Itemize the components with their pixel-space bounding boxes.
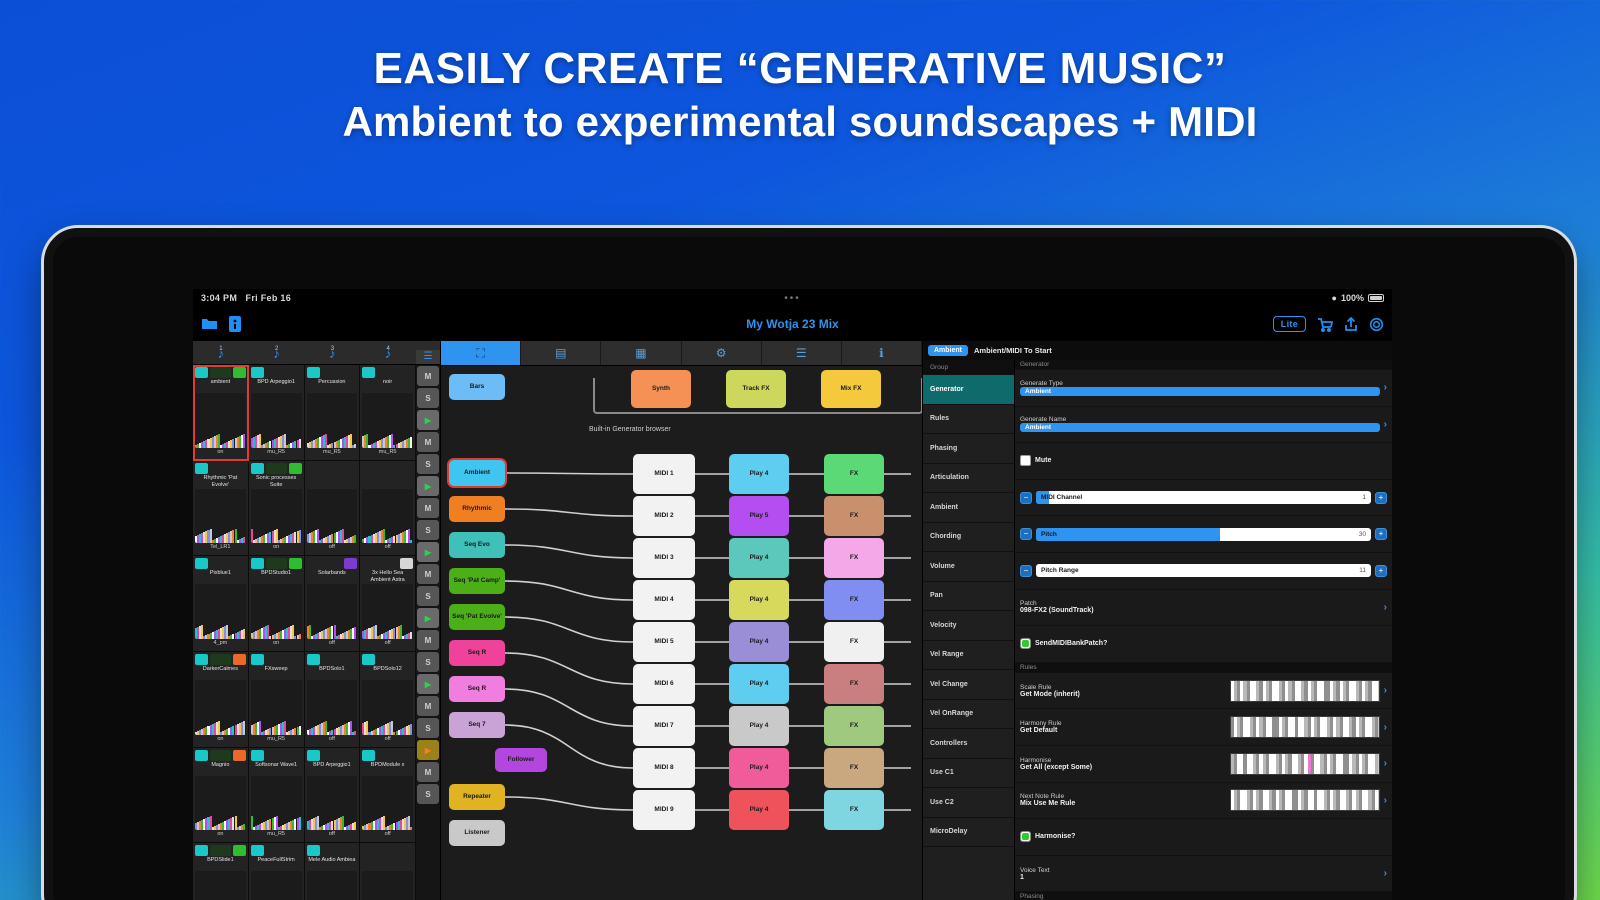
mixer-cell-toggles	[251, 654, 302, 665]
parameter-label: Generate Type	[1020, 380, 1380, 387]
mixer-cell-chip[interactable]	[233, 367, 246, 378]
parameter-slider[interactable]: Pitch30	[1036, 528, 1371, 541]
rule-pattern-strip[interactable]	[1230, 716, 1380, 738]
mixer-cell-waveform	[195, 680, 246, 735]
mixer-cell-chip[interactable]	[195, 367, 208, 378]
list-tab-icon: ☰	[796, 346, 807, 360]
mixer-cell-status: mu_R5	[251, 449, 302, 458]
mixer-cell-name: BPD Arpeggio1	[251, 379, 302, 392]
mixer-play-button[interactable]: ▶	[417, 740, 439, 760]
mixer-cell-chip[interactable]	[195, 845, 208, 856]
parameter-value[interactable]: Ambient	[1020, 387, 1380, 396]
tab-mixer-tab[interactable]: ▤	[521, 341, 601, 365]
mixer-cell-toggles	[195, 845, 246, 856]
mixer-cell-chip[interactable]	[251, 750, 264, 761]
mixer-cell-chip[interactable]	[195, 654, 208, 665]
graph-node-midi[interactable]: MIDI 1	[633, 454, 695, 494]
graph-node-generator[interactable]: Repeater	[449, 784, 505, 810]
stepper-increment-button[interactable]: +	[1375, 492, 1387, 504]
parameter-stack: Patch098-FX2 (SoundTrack)	[1020, 600, 1380, 614]
parameter-row-select[interactable]: Generate NameAmbient›	[1015, 407, 1392, 444]
mixer-cell-waveform	[195, 871, 246, 900]
mixer-solo-button[interactable]: S	[417, 784, 439, 804]
parameter-slider[interactable]: Pitch Range11	[1036, 564, 1371, 577]
mixer-cell-chip[interactable]	[210, 654, 231, 665]
mixer-cell-chip[interactable]	[307, 654, 320, 665]
toggle-indicator[interactable]	[1020, 638, 1031, 649]
mixer-cell-waveform	[307, 680, 358, 735]
mixer-solo-button[interactable]: S	[417, 520, 439, 540]
mixer-cell-toggles	[251, 845, 302, 856]
parameter-row-slider[interactable]: −MIDI Channel1+	[1015, 480, 1392, 517]
mixer-cell-waveform	[307, 776, 358, 831]
parameter-group-header: Group	[923, 360, 1014, 375]
graph-node-generator[interactable]: Seq Evo	[449, 532, 505, 558]
parameter-label: SendMIDIBankPatch?	[1035, 640, 1107, 647]
parameter-stack: Generate TypeAmbient	[1020, 380, 1380, 396]
mixer-cell-toggles	[307, 558, 358, 569]
lite-badge-button[interactable]: Lite	[1273, 316, 1306, 332]
mixer-cell-chip[interactable]	[233, 750, 246, 761]
mixer-cell-chip[interactable]	[307, 750, 320, 761]
share-icon[interactable]	[1344, 316, 1358, 332]
parameter-value: 098-FX2 (SoundTrack)	[1020, 607, 1380, 614]
graph-node-play[interactable]: Play 4	[729, 622, 789, 662]
graph-node-midi[interactable]: MIDI 5	[633, 622, 695, 662]
mixer-play-button[interactable]: ▶	[417, 410, 439, 430]
mixer-solo-button[interactable]: S	[417, 454, 439, 474]
mixer-cell[interactable]: Pixblue14_pm	[193, 556, 249, 652]
mixer-cell[interactable]: noirmu_R5	[360, 365, 416, 461]
mixer-cell-chip[interactable]	[195, 750, 208, 761]
graph-node-generator[interactable]: Seq 7	[449, 712, 505, 738]
parameter-row-text[interactable]: Patch098-FX2 (SoundTrack)›	[1015, 590, 1392, 627]
mixer-cell-status: off	[362, 736, 413, 745]
mixer-cell-waveform	[251, 680, 302, 735]
mixer-column-header[interactable]: 2♪	[249, 345, 305, 364]
graph-section-label: Built-in Generator browser	[589, 426, 671, 433]
mixer-cell-chip[interactable]	[251, 558, 264, 569]
parameter-group-item[interactable]: MicroDelay	[923, 818, 1014, 848]
mixer-cell-chip[interactable]	[362, 750, 375, 761]
parameter-value: Get All (except Some)	[1020, 764, 1226, 771]
graph-node-fx[interactable]: FX	[824, 664, 884, 704]
rule-pattern-strip[interactable]	[1230, 680, 1380, 702]
mixer-cell-chip[interactable]	[344, 558, 357, 569]
mixer-cell-waveform	[251, 871, 302, 900]
mixer-cell-chip[interactable]	[266, 463, 287, 474]
graph-node-midi[interactable]: MIDI 3	[633, 538, 695, 578]
parameter-row-toggle[interactable]: Harmonise?	[1015, 819, 1392, 856]
mixer-cell[interactable]: Softsonar Wave1mu_R5	[249, 748, 305, 844]
mixer-cell-toggles	[251, 463, 302, 474]
mixer-cell-toggles	[362, 463, 413, 474]
parameter-label: Scale Rule	[1020, 684, 1226, 691]
mixer-cell-toggles	[362, 654, 413, 665]
status-indicators: ● 100%	[1332, 293, 1384, 303]
status-date: Fri Feb 16	[246, 293, 292, 303]
mixer-cell-name: BPDSolo1	[307, 666, 358, 679]
graph-node-play[interactable]: Play 4	[729, 580, 789, 620]
parameter-label: Generate Name	[1020, 416, 1380, 423]
mixer-menu-button[interactable]: ☰	[416, 350, 440, 364]
parameter-value: Get Default	[1020, 727, 1226, 734]
mixer-cell[interactable]: Solarbandsoff	[305, 556, 361, 652]
stepper-increment-button[interactable]: +	[1375, 528, 1387, 540]
mixer-cell[interactable]: Mele Audio Ambieaoff	[305, 843, 361, 900]
document-icon[interactable]	[228, 316, 242, 332]
parameter-stack: Generate NameAmbient	[1020, 416, 1380, 432]
chevron-right-icon[interactable]: ›	[1384, 419, 1387, 430]
graph-node-generator[interactable]: Rhythmic	[449, 496, 505, 522]
mixer-cell-waveform	[362, 489, 413, 544]
tab-network-tab[interactable]: ⚙	[682, 341, 762, 365]
mixer-cell-chip[interactable]	[210, 845, 231, 856]
mixer-cell[interactable]: Magnioon	[193, 748, 249, 844]
graph-node-play[interactable]: Play 4	[729, 706, 789, 746]
parameter-stack: Voice Text1	[1020, 867, 1380, 881]
parameter-row-rule[interactable]: Scale RuleGet Mode (inherit)›	[1015, 673, 1392, 710]
toggle-indicator[interactable]	[1020, 831, 1031, 842]
parameter-row-rule[interactable]: Harmony RuleGet Default›	[1015, 709, 1392, 746]
graph-node-midi[interactable]: MIDI 6	[633, 664, 695, 704]
mixer-cell-chip[interactable]	[251, 654, 264, 665]
graph-node-play[interactable]: Play 5	[729, 496, 789, 536]
cart-icon[interactable]	[1317, 317, 1333, 332]
mixer-cell-waveform	[362, 584, 413, 639]
parameters-badge[interactable]: Ambient	[928, 345, 968, 356]
graph-node-synth[interactable]: Synth	[631, 370, 691, 408]
graph-node-midi[interactable]: MIDI 7	[633, 706, 695, 746]
mixer-cell-name: Softsonar Wave1	[251, 762, 302, 775]
parameter-group-item[interactable]: Pan	[923, 582, 1014, 612]
mixer-panel: 1♪2♪3♪4♪☰ ambientonBPD Arpeggio1mu_R5Per…	[193, 341, 441, 900]
mixer-cell-chip[interactable]	[362, 367, 375, 378]
mixer-cell-status: on	[195, 449, 246, 458]
graph-node-fx[interactable]: FX	[824, 454, 884, 494]
graph-node-fx[interactable]: FX	[824, 538, 884, 578]
mixer-cell[interactable]: PeaceFullStrimmu_R5	[249, 843, 305, 900]
graph-node-follower[interactable]: Follower	[495, 748, 547, 772]
parameter-group-item[interactable]: Use C2	[923, 788, 1014, 818]
graph-node-generator[interactable]: Listener	[449, 820, 505, 846]
mixer-mute-button[interactable]: M	[417, 432, 439, 452]
graph-node-fx[interactable]: FX	[824, 622, 884, 662]
graph-node-generator[interactable]: Ambient	[449, 460, 505, 486]
parameter-group-item[interactable]: Ambient	[923, 493, 1014, 523]
graph-node-fx[interactable]: FX	[824, 496, 884, 536]
mixer-cell-name: Rhythmic 'Pat Evolve'	[195, 475, 246, 488]
mixer-cell-waveform	[251, 393, 302, 448]
graph-node-fx[interactable]: FX	[824, 580, 884, 620]
promo-headline: EASILY CREATE “GENERATIVE MUSIC” Ambient…	[0, 44, 1600, 148]
parameter-section-header: Phasing	[1015, 892, 1392, 900]
mute-checkbox[interactable]	[1020, 455, 1031, 466]
chevron-right-icon[interactable]: ›	[1384, 602, 1387, 613]
graph-node-generator[interactable]: Seq 'Pat Evolve'	[449, 604, 505, 630]
parameter-row-rule[interactable]: Next Note RuleMix Use Me Rule›	[1015, 783, 1392, 820]
mixer-cell-chip[interactable]	[307, 845, 320, 856]
mixer-cell-waveform	[251, 776, 302, 831]
mixer-cell-toggles	[307, 750, 358, 761]
graph-node-play[interactable]: Play 4	[729, 790, 789, 830]
chevron-right-icon[interactable]: ›	[1384, 382, 1387, 393]
mixer-play-button[interactable]: ▶	[417, 674, 439, 694]
mixer-cell-chip[interactable]	[266, 558, 287, 569]
info-tab-icon: ℹ	[879, 346, 884, 360]
parameter-stack: HarmoniseGet All (except Some)	[1020, 757, 1226, 771]
gear-icon[interactable]	[1369, 317, 1384, 332]
mixer-cell-name: BPD Arpeggio1	[307, 762, 358, 775]
mixer-cell-toggles	[251, 367, 302, 378]
graph-node-play[interactable]: Play 4	[729, 454, 789, 494]
mixer-cell-waveform	[195, 393, 246, 448]
parameter-group-item[interactable]: Vel OnRange	[923, 700, 1014, 730]
mixer-cell-chip[interactable]	[251, 845, 264, 856]
mixer-cell-status: on	[251, 640, 302, 649]
parameter-row-slider[interactable]: −Pitch Range11+	[1015, 553, 1392, 590]
parameter-group-item[interactable]: Volume	[923, 552, 1014, 582]
parameter-label: Harmony Rule	[1020, 720, 1226, 727]
status-time: 3:04 PM	[201, 293, 237, 303]
mixer-cell-toggles	[362, 750, 413, 761]
status-time-date: 3:04 PM Fri Feb 16	[201, 293, 291, 303]
mixer-cell-status: off	[362, 640, 413, 649]
tablet-screen: 3:04 PM Fri Feb 16 ••• ● 100% My Wotja 2…	[193, 289, 1392, 900]
mixer-cell-name: Pixblue1	[195, 570, 246, 583]
mixer-cell-waveform	[195, 584, 246, 639]
mixer-cell-status: off	[307, 831, 358, 840]
parameter-group-item[interactable]: Generator	[923, 375, 1014, 405]
parameter-group-item[interactable]: Rules	[923, 405, 1014, 435]
mixer-cell-toggles	[251, 750, 302, 761]
mixer-cell[interactable]: BPD Arpeggio1mu_R5	[249, 365, 305, 461]
mixer-cell-name	[362, 857, 413, 870]
mixer-cell-status: 4_pm	[195, 640, 246, 649]
mixer-cell-status: off	[362, 831, 413, 840]
graph-node-generator[interactable]: Seq R	[449, 640, 505, 666]
stepper-decrement-button[interactable]: −	[1020, 565, 1032, 577]
mixer-cell-chip[interactable]	[233, 845, 246, 856]
mixer-cell-name: BPDStudio1	[251, 570, 302, 583]
rule-pattern-strip[interactable]	[1230, 789, 1380, 811]
mixer-solo-button[interactable]: S	[417, 388, 439, 408]
network-tab-icon: ⚙	[716, 346, 727, 360]
graph-node-generator[interactable]: Seq 'Pat Camp'	[449, 568, 505, 594]
mixer-cell-name: PeaceFullStrim	[251, 857, 302, 870]
flow-tab-icon: ⛶	[476, 346, 484, 361]
mixer-cell-toggles	[307, 654, 358, 665]
chevron-right-icon[interactable]: ›	[1384, 758, 1387, 769]
parameter-group-item[interactable]: Articulation	[923, 464, 1014, 494]
chevron-right-icon[interactable]: ›	[1384, 795, 1387, 806]
parameter-row-slider[interactable]: −Pitch30+	[1015, 516, 1392, 553]
mixer-cell-waveform	[307, 393, 358, 448]
mixer-solo-button[interactable]: S	[417, 718, 439, 738]
parameter-value: Mix Use Me Rule	[1020, 800, 1226, 807]
mixer-cell[interactable]: BPDSlide1on	[193, 843, 249, 900]
mixer-cell[interactable]: BPD Arpeggio1off	[305, 748, 361, 844]
app-toolbar: My Wotja 23 Mix Lite	[193, 307, 1392, 341]
parameters-body: GroupGeneratorRulesPhasingArticulationAm…	[923, 360, 1392, 900]
graph-node-generator[interactable]: Seq R	[449, 676, 505, 702]
chevron-right-icon[interactable]: ›	[1384, 685, 1387, 696]
mixer-cell[interactable]: off	[305, 461, 361, 557]
parameter-row-checkbox[interactable]: Mute	[1015, 443, 1392, 480]
tab-info-tab[interactable]: ℹ	[842, 341, 922, 365]
parameter-section-header: Rules	[1015, 663, 1392, 673]
mixer-cell-toggles	[195, 558, 246, 569]
parameter-label: Next Note Rule	[1020, 793, 1226, 800]
slider-value: 11	[1359, 567, 1371, 574]
parameter-label: Mute	[1035, 457, 1051, 464]
mixer-mute-button[interactable]: M	[417, 696, 439, 716]
mixer-mute-button[interactable]: M	[417, 762, 439, 782]
grid-tab-icon: ▦	[635, 346, 646, 360]
graph-node-play[interactable]: Play 4	[729, 664, 789, 704]
graph-node-fx[interactable]: FX	[824, 706, 884, 746]
parameter-section-header: Generator	[1015, 360, 1392, 370]
parameter-value: Get Mode (inherit)	[1020, 691, 1226, 698]
graph-node-fx[interactable]: FX	[824, 748, 884, 788]
mixer-cell[interactable]: FXsweepmu_R5	[249, 652, 305, 748]
mixer-cell-chip[interactable]	[289, 463, 302, 474]
graph-node-play[interactable]: Play 4	[729, 748, 789, 788]
editor-tabs: ⛶▤▦⚙☰ℹ	[441, 341, 922, 366]
mixer-cell-chip[interactable]	[289, 558, 302, 569]
parameter-group-item[interactable]: Vel Range	[923, 641, 1014, 671]
mixer-cell-waveform	[251, 584, 302, 639]
mixer-cell-chip[interactable]	[210, 367, 231, 378]
parameter-label: Harmonise?	[1035, 833, 1075, 840]
stepper-increment-button[interactable]: +	[1375, 565, 1387, 577]
mixer-cell[interactable]: Rhythmic 'Pat Evolve'Tel_LR1	[193, 461, 249, 557]
stepper-decrement-button[interactable]: −	[1020, 528, 1032, 540]
stepper-decrement-button[interactable]: −	[1020, 492, 1032, 504]
chevron-right-icon[interactable]: ›	[1384, 722, 1387, 733]
tablet-device: 3:04 PM Fri Feb 16 ••• ● 100% My Wotja 2…	[44, 228, 1574, 900]
mixer-cell-waveform	[362, 393, 413, 448]
parameter-group-item[interactable]: Vel Change	[923, 670, 1014, 700]
mixer-cell-chip[interactable]	[362, 654, 375, 665]
mixer-cell-chip[interactable]	[307, 367, 320, 378]
parameter-row-toggle[interactable]: SendMIDIBankPatch?	[1015, 626, 1392, 663]
parameter-label: Harmonise	[1020, 757, 1226, 764]
mixer-cell[interactable]: 3x Hello Sea Ambient Astraoff	[360, 556, 416, 652]
mixer-cell-chip[interactable]	[251, 463, 264, 474]
mixer-cell[interactable]: BPDSolo1off	[305, 652, 361, 748]
mixer-cell-status: mu_R5	[251, 736, 302, 745]
tab-list-tab[interactable]: ☰	[762, 341, 842, 365]
mixer-cell-toggles	[307, 463, 358, 474]
parameters-header: Ambient Ambient/MIDI To Start	[923, 341, 1392, 360]
rule-pattern-strip[interactable]	[1230, 753, 1380, 775]
slider-label: MIDI Channel	[1036, 494, 1082, 501]
mixer-cell-toggles	[362, 558, 413, 569]
mixer-cell-status: off	[307, 640, 358, 649]
parameter-group-item[interactable]: Chording	[923, 523, 1014, 553]
mixer-solo-button[interactable]: S	[417, 586, 439, 606]
mixer-play-button[interactable]: ▶	[417, 476, 439, 496]
mixer-cell[interactable]: BPDModule xoff	[360, 748, 416, 844]
parameter-group-item[interactable]: Phasing	[923, 434, 1014, 464]
mixer-column-number: 4	[360, 346, 416, 352]
parameter-slider[interactable]: MIDI Channel1	[1036, 491, 1371, 504]
graph-node-midi[interactable]: MIDI 4	[633, 580, 695, 620]
parameter-group-item[interactable]: Use C1	[923, 759, 1014, 789]
mixer-cell-chip[interactable]	[251, 367, 264, 378]
mixer-cell[interactable]: off	[360, 843, 416, 900]
mixer-cell-chip[interactable]	[195, 558, 208, 569]
graph-node-mix-fx[interactable]: Mix FX	[821, 370, 881, 408]
mixer-cell[interactable]: Percussionmu_R5	[305, 365, 361, 461]
mixer-cell-chip[interactable]	[210, 750, 231, 761]
chevron-right-icon[interactable]: ›	[1384, 868, 1387, 879]
mixer-cell-name: Mele Audio Ambiea	[307, 857, 358, 870]
mixer-play-button[interactable]: ▶	[417, 608, 439, 628]
graph-node-play[interactable]: Play 4	[729, 538, 789, 578]
slider-value: 30	[1359, 531, 1371, 538]
mixer-cell[interactable]: ambienton	[193, 365, 249, 461]
mixer-mute-button[interactable]: M	[417, 630, 439, 650]
graph-node-midi[interactable]: MIDI 8	[633, 748, 695, 788]
mixer-column-header[interactable]: 3♪	[305, 345, 361, 364]
mixer-cell-waveform	[307, 584, 358, 639]
parameter-label: Voice Text	[1020, 867, 1380, 874]
mixer-cell-chip[interactable]	[195, 463, 208, 474]
slider-value: 1	[1362, 494, 1371, 501]
parameter-row-rule[interactable]: HarmoniseGet All (except Some)›	[1015, 746, 1392, 783]
mixer-play-button[interactable]: ▶	[417, 542, 439, 562]
parameter-group-item[interactable]: Velocity	[923, 611, 1014, 641]
mixer-mute-button[interactable]: M	[417, 366, 439, 386]
mixer-cell-chip[interactable]	[400, 558, 413, 569]
mixer-column-header[interactable]: 4♪	[360, 345, 416, 364]
tab-grid-tab[interactable]: ▦	[601, 341, 681, 365]
mixer-cell-toggles	[362, 367, 413, 378]
mixer-column-header[interactable]: 1♪	[193, 345, 249, 364]
mixer-column-number: 1	[193, 346, 249, 352]
graph-node-fx[interactable]: FX	[824, 790, 884, 830]
mixer-cell-chip[interactable]	[233, 654, 246, 665]
mixer-cell[interactable]: BPDSolo12off	[360, 652, 416, 748]
graph-node-bars[interactable]: Bars	[449, 374, 505, 400]
mixer-cell[interactable]: DarkerCalmeson	[193, 652, 249, 748]
parameter-value[interactable]: Ambient	[1020, 423, 1380, 432]
folder-icon[interactable]	[201, 317, 218, 331]
parameter-row-select[interactable]: Generate TypeAmbient›	[1015, 370, 1392, 407]
graph-node-midi[interactable]: MIDI 9	[633, 790, 695, 830]
tab-flow-tab[interactable]: ⛶	[441, 341, 521, 365]
mixer-cell[interactable]: BPDStudio1on	[249, 556, 305, 652]
mixer-cell[interactable]: Sonic processes Suiteon	[249, 461, 305, 557]
graph-node-midi[interactable]: MIDI 2	[633, 496, 695, 536]
mixer-tab-icon: ▤	[555, 346, 566, 360]
graph-node-track-fx[interactable]: Track FX	[726, 370, 786, 408]
mixer-cell-waveform	[195, 489, 246, 544]
mixer-cell-name: Magnio	[195, 762, 246, 775]
parameter-group-item[interactable]: Controllers	[923, 729, 1014, 759]
mixer-mute-button[interactable]: M	[417, 498, 439, 518]
mixer-cell-waveform	[362, 776, 413, 831]
parameter-row-text[interactable]: Voice Text1›	[1015, 856, 1392, 893]
mixer-solo-button[interactable]: S	[417, 652, 439, 672]
mixer-mute-button[interactable]: M	[417, 564, 439, 584]
mixer-cell[interactable]: off	[360, 461, 416, 557]
parameters-panel: Ambient Ambient/MIDI To Start GroupGener…	[922, 341, 1392, 900]
mixer-column-headers: 1♪2♪3♪4♪☰	[193, 341, 440, 365]
mixer-cells: ambientonBPD Arpeggio1mu_R5Percussionmu_…	[193, 365, 416, 900]
